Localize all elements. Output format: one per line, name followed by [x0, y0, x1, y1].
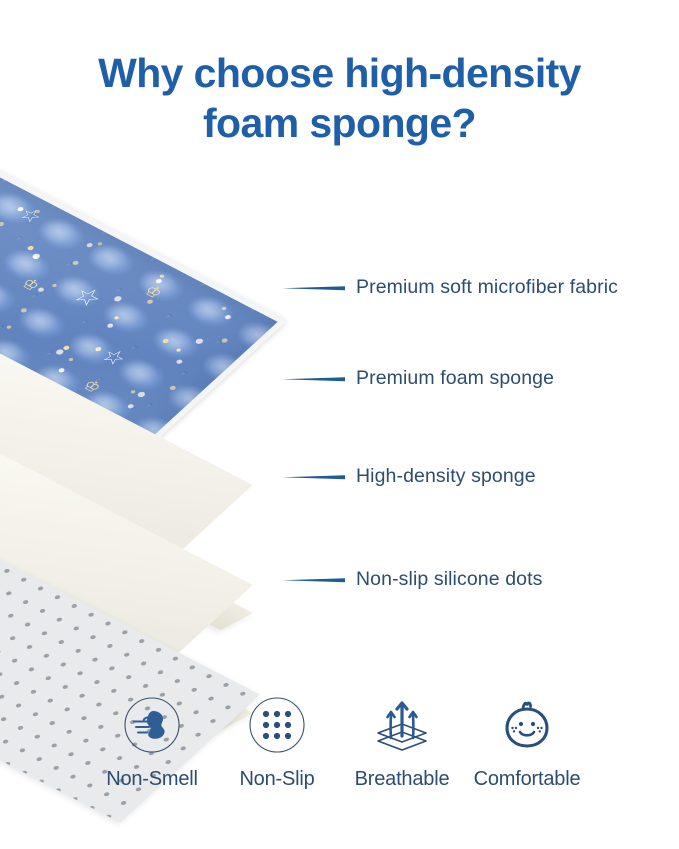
title-line-2: foam sponge? [0, 98, 679, 148]
feature-label: Breathable [355, 768, 450, 791]
callout-high-density-sponge: High-density sponge [282, 465, 536, 488]
leader-line-icon [282, 373, 346, 385]
feature-breathable: Breathable [340, 694, 465, 791]
callout-label: Premium soft microfiber fabric [356, 276, 618, 299]
airflow-layers-icon [371, 694, 433, 756]
infographic-page: Why choose high-density foam sponge? ☆ ☆… [0, 0, 679, 849]
dot-grid-icon [246, 694, 308, 756]
callout-label: Premium foam sponge [356, 367, 554, 390]
callout-label: Non-slip silicone dots [356, 568, 542, 591]
smell-waves-icon [121, 694, 183, 756]
callout-label: High-density sponge [356, 465, 536, 488]
title-line-1: Why choose high-density [0, 48, 679, 98]
mattress-layer-stack: ☆ ☆ ☆ ☆ ☆ ☆ ☆ ☆ ☆ ☆ ♔ ♔ ♔ ♔ ♔ [0, 128, 385, 698]
leader-line-icon [282, 282, 346, 294]
baby-face-icon [496, 694, 558, 756]
crown-icon: ♔ [140, 284, 165, 302]
feature-label: Non-Smell [106, 768, 198, 791]
crown-icon: ♔ [17, 276, 42, 294]
page-title: Why choose high-density foam sponge? [0, 48, 679, 148]
callout-microfiber-fabric: Premium soft microfiber fabric [282, 276, 618, 299]
callout-premium-foam: Premium foam sponge [282, 367, 554, 390]
feature-non-slip: Non-Slip [215, 694, 340, 791]
gold-dot [26, 245, 34, 251]
star-icon: ☆ [15, 204, 47, 227]
callout-silicone-dots: Non-slip silicone dots [282, 568, 542, 591]
leader-line-icon [282, 574, 346, 586]
feature-non-smell: Non-Smell [90, 694, 215, 791]
feature-comfortable: Comfortable [465, 694, 590, 791]
leader-line-icon [282, 471, 346, 483]
feature-label: Comfortable [474, 768, 581, 791]
feature-label: Non-Slip [239, 768, 314, 791]
feature-row: Non-Smell Non-Slip [0, 694, 679, 791]
